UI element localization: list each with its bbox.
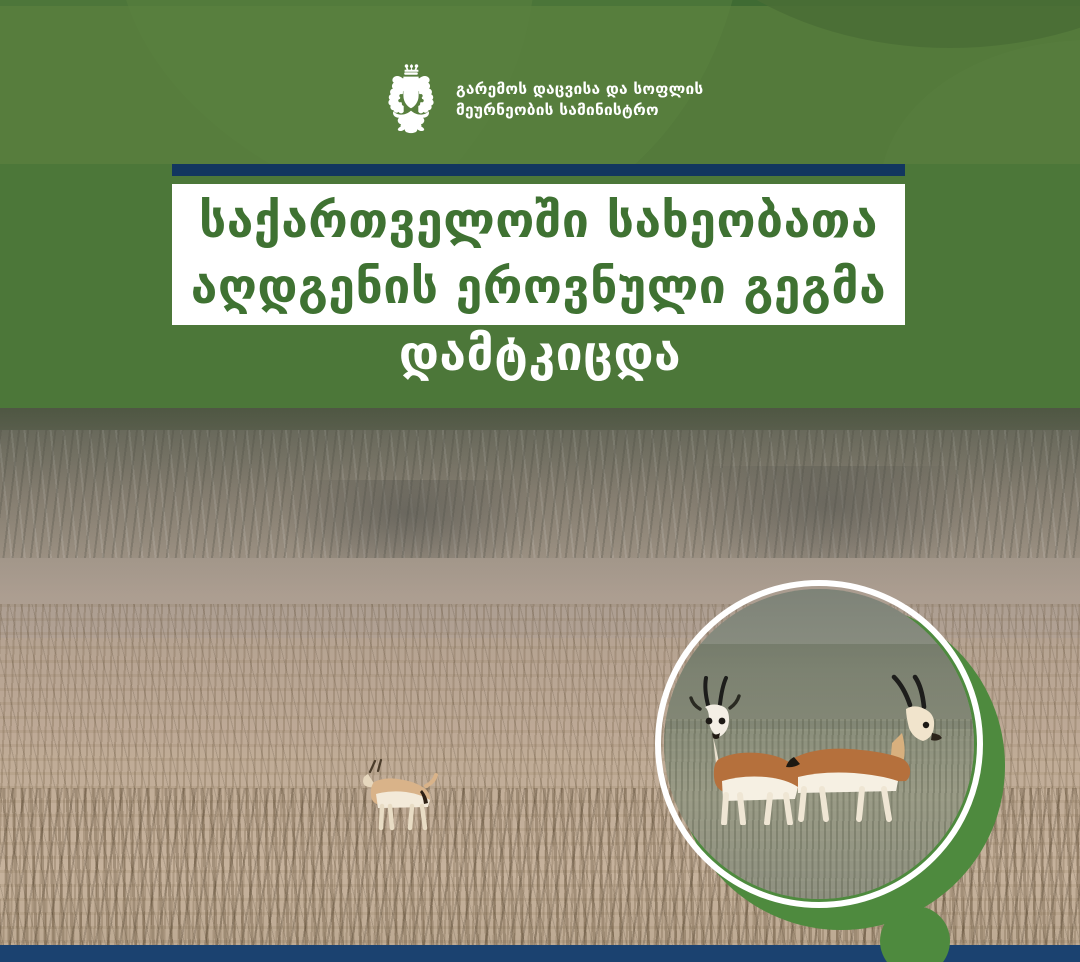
poster-root: გარემოს დაცვისა და სოფლის მეურნეობის სამ… xyxy=(0,0,1080,962)
title-navy-rule xyxy=(172,164,905,176)
circular-photo-inset xyxy=(655,580,1005,930)
title-band: საქართველოში სახეობათა აღდგენის ეროვნული… xyxy=(0,164,1080,408)
header-band: გარემოს დაცვისა და სოფლის მეურნეობის სამ… xyxy=(0,0,1080,164)
page-title-line-1: საქართველოში სახეობათა xyxy=(199,189,878,254)
page-title-line-2: აღდგენის ეროვნული გეგმა xyxy=(191,255,887,320)
gazelle-icon xyxy=(352,756,448,834)
inset-white-ring xyxy=(655,580,983,908)
ministry-name-label: გარემოს დაცვისა და სოფლის მეურნეობის სამ… xyxy=(456,79,703,121)
page-title-line-3: დამტკიცდა xyxy=(0,330,1080,378)
header-decor-shape-d xyxy=(880,40,1080,164)
georgian-coat-of-arms-icon xyxy=(380,62,442,138)
title-white-box: საქართველოში სახეობათა აღდგენის ეროვნული… xyxy=(172,184,905,325)
ministry-brand: გარემოს დაცვისა და სოფლის მეურნეობის სამ… xyxy=(380,62,703,138)
